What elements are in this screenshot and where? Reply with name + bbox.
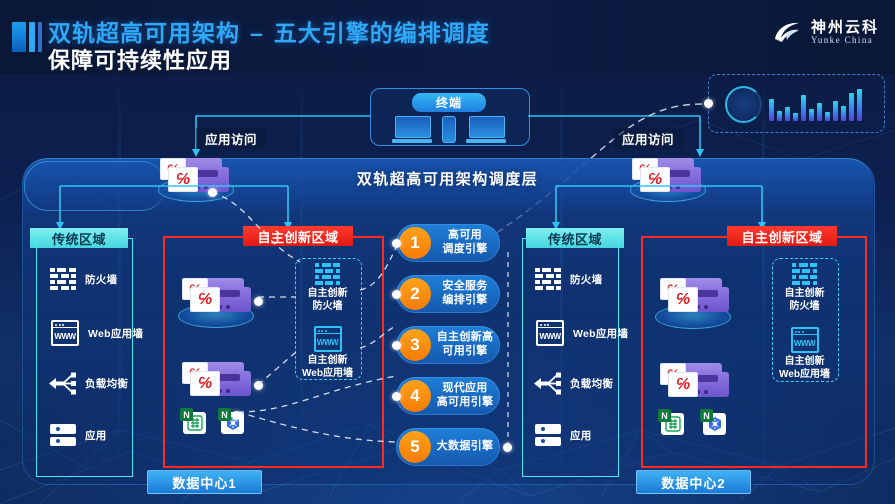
- innovation-firewall-label-right: 自主创新 防火墙: [772, 288, 837, 313]
- engine-label-line2: 编排引擎: [442, 294, 487, 308]
- connector-dot: [392, 392, 401, 401]
- label-line1: 自主创新: [772, 356, 837, 369]
- engine-pill-3[interactable]: 3 自主创新高 可用引擎: [396, 326, 500, 364]
- engine-pill-4[interactable]: 4 现代应用 高可用引擎: [396, 377, 500, 415]
- innovation-firewall-left: 自主创新 防火墙: [295, 263, 360, 313]
- web-app-firewall-icon: WWW: [51, 320, 79, 346]
- innovation-appliance-right-1: ℅ ℅: [660, 278, 724, 312]
- engine-label-line1: 高可用: [448, 229, 482, 243]
- traditional-item-firewall-right: 防火墙: [535, 268, 602, 290]
- slide-header: 双轨超高可用架构–五大引擎的编排调度 保障可持续性应用 神州云科 Yunke C…: [0, 0, 895, 74]
- vendor-logo-icon: ℅: [640, 167, 670, 192]
- load-balance-icon: [534, 372, 561, 395]
- innovation-appliance-left-2: ℅ ℅: [182, 362, 246, 396]
- scheduling-layer-label: 双轨超高可用架构调度层: [0, 168, 895, 189]
- analytics-panel: [708, 74, 885, 133]
- label-line2: 防火墙: [772, 301, 837, 314]
- connector-dot: [503, 443, 512, 452]
- laptop-icon: [392, 116, 432, 143]
- engine-label-line1: 自主创新高: [437, 331, 494, 345]
- brand-name-en: Yunke China: [811, 36, 879, 45]
- firewall-icon: [315, 263, 341, 285]
- traditional-item-label: 负载均衡: [570, 376, 613, 391]
- traditional-item-label: 防火墙: [85, 272, 117, 287]
- engine-number: 5: [399, 431, 431, 463]
- innovation-waf-left: WWW 自主创新 Web应用墙: [295, 326, 360, 380]
- traditional-item-app-left: 应用: [50, 424, 107, 446]
- innovation-firewall-label-left: 自主创新 防火墙: [295, 288, 360, 313]
- engine-label: 现代应用 高可用引擎: [432, 377, 498, 415]
- scheduler-appliance-left: ℅ ℅: [160, 158, 224, 192]
- label-line1: 自主创新: [295, 355, 360, 368]
- innovation-waf-label-right: 自主创新 Web应用墙: [772, 356, 837, 381]
- engine-pill-1[interactable]: 1 高可用 调度引擎: [396, 224, 500, 262]
- connector-dot: [704, 99, 713, 108]
- zone-title-innovation-left: 自主创新区域: [243, 226, 353, 246]
- page-subtitle: 保障可持续性应用: [48, 43, 232, 75]
- traditional-item-label: Web应用墙: [88, 326, 143, 341]
- nginx-service-icon-right: N: [658, 409, 684, 435]
- innovation-waf-label-left: 自主创新 Web应用墙: [295, 355, 360, 380]
- scheduler-appliance-right: ℅ ℅: [632, 158, 696, 192]
- connector-dot: [392, 341, 401, 350]
- load-balance-icon: [49, 372, 76, 395]
- engine-number: 1: [399, 227, 431, 259]
- web-app-firewall-icon: WWW: [314, 326, 342, 352]
- donut-chart-icon: [725, 86, 762, 123]
- application-server-icon: [535, 424, 561, 446]
- traditional-item-label: 防火墙: [570, 272, 602, 287]
- engine-label: 自主创新高 可用引擎: [432, 326, 498, 364]
- traditional-item-waf-left: WWW Web应用墙: [51, 320, 143, 346]
- vendor-logo-icon: ℅: [190, 287, 220, 312]
- traditional-item-firewall-left: 防火墙: [50, 268, 117, 290]
- engine-label-line1: 现代应用: [442, 382, 487, 396]
- datacenter-label-left: 数据中心1: [147, 470, 262, 494]
- web-app-firewall-icon: WWW: [536, 320, 564, 346]
- label-line1: 自主创新: [295, 288, 360, 301]
- connector-dot: [254, 297, 263, 306]
- device-icons: [380, 113, 518, 143]
- traditional-item-label: 负载均衡: [85, 376, 128, 391]
- vendor-logo-icon: ℅: [668, 287, 698, 312]
- firewall-icon: [792, 263, 818, 285]
- nginx-badge-icon: N: [218, 408, 231, 421]
- header-accent-bars: [12, 18, 42, 52]
- engine-label-line2: 可用引擎: [442, 345, 487, 359]
- connector-dot: [392, 239, 401, 248]
- innovation-appliance-left-1: ℅ ℅: [182, 278, 246, 312]
- web-app-firewall-icon: WWW: [791, 327, 819, 353]
- datacenter-label-right: 数据中心2: [636, 470, 751, 494]
- engine-label-line2: 调度引擎: [442, 243, 487, 257]
- engine-label: 大数据引擎: [432, 428, 498, 466]
- access-label-left: 应用访问: [196, 128, 266, 149]
- access-label-right: 应用访问: [613, 128, 683, 149]
- title-dash: –: [240, 20, 274, 46]
- engine-number: 2: [399, 278, 431, 310]
- nginx-badge-icon: N: [700, 409, 713, 422]
- page-title-sub: 五大引擎的编排调度: [274, 20, 490, 46]
- phone-icon: [442, 116, 456, 143]
- engine-number: 3: [399, 329, 431, 361]
- innovation-appliance-right-2: ℅ ℅: [660, 363, 724, 397]
- traditional-item-app-right: 应用: [535, 424, 592, 446]
- vendor-logo-icon: ℅: [168, 167, 198, 192]
- slide-canvas: 双轨超高可用架构–五大引擎的编排调度 保障可持续性应用 神州云科 Yunke C…: [0, 0, 895, 504]
- connector-dot: [392, 290, 401, 299]
- traditional-item-label: Web应用墙: [573, 326, 628, 341]
- innovation-waf-right: WWW 自主创新 Web应用墙: [772, 327, 837, 381]
- engine-label-line1: 安全服务: [442, 280, 487, 294]
- engine-pill-5[interactable]: 5 大数据引擎: [396, 428, 500, 466]
- label-line1: 自主创新: [772, 288, 837, 301]
- traditional-item-label: 应用: [85, 428, 107, 443]
- innovation-firewall-right: 自主创新 防火墙: [772, 263, 837, 313]
- engine-number: 4: [399, 380, 431, 412]
- engine-label: 高可用 调度引擎: [432, 224, 498, 262]
- nginx-badge-icon: N: [658, 409, 671, 422]
- engine-label-line1: 大数据引擎: [437, 440, 494, 454]
- firewall-icon: [50, 268, 76, 290]
- vendor-logo-icon: ℅: [668, 372, 698, 397]
- zone-title-innovation-right: 自主创新区域: [727, 226, 837, 246]
- nginx-service-icon-left: N: [180, 408, 206, 434]
- firewall-icon: [535, 268, 561, 290]
- kubernetes-service-icon-right: N: [700, 409, 726, 435]
- engine-label-line2: 高可用引擎: [437, 396, 494, 410]
- connector-dot: [254, 381, 263, 390]
- bar-chart-icon: [769, 85, 869, 121]
- brand-logo: 神州云科 Yunke China: [772, 20, 879, 46]
- terminal-label: 终端: [412, 93, 486, 112]
- engine-label: 安全服务 编排引擎: [432, 275, 498, 313]
- connector-dot: [208, 188, 217, 197]
- vendor-logo-icon: ℅: [190, 371, 220, 396]
- traditional-item-lb-left: 负载均衡: [49, 372, 128, 395]
- traditional-item-waf-right: WWW Web应用墙: [536, 320, 628, 346]
- application-server-icon: [50, 424, 76, 446]
- brand-mark-icon: [772, 20, 804, 46]
- brand-name-cn: 神州云科: [811, 20, 879, 36]
- label-line2: Web应用墙: [295, 368, 360, 381]
- connector-dot: [232, 411, 241, 420]
- traditional-item-lb-right: 负载均衡: [534, 372, 613, 395]
- label-line2: Web应用墙: [772, 369, 837, 382]
- traditional-item-label: 应用: [570, 428, 592, 443]
- nginx-badge-icon: N: [180, 408, 193, 421]
- laptop-icon: [466, 116, 506, 143]
- label-line2: 防火墙: [295, 301, 360, 314]
- engine-pill-2[interactable]: 2 安全服务 编排引擎: [396, 275, 500, 313]
